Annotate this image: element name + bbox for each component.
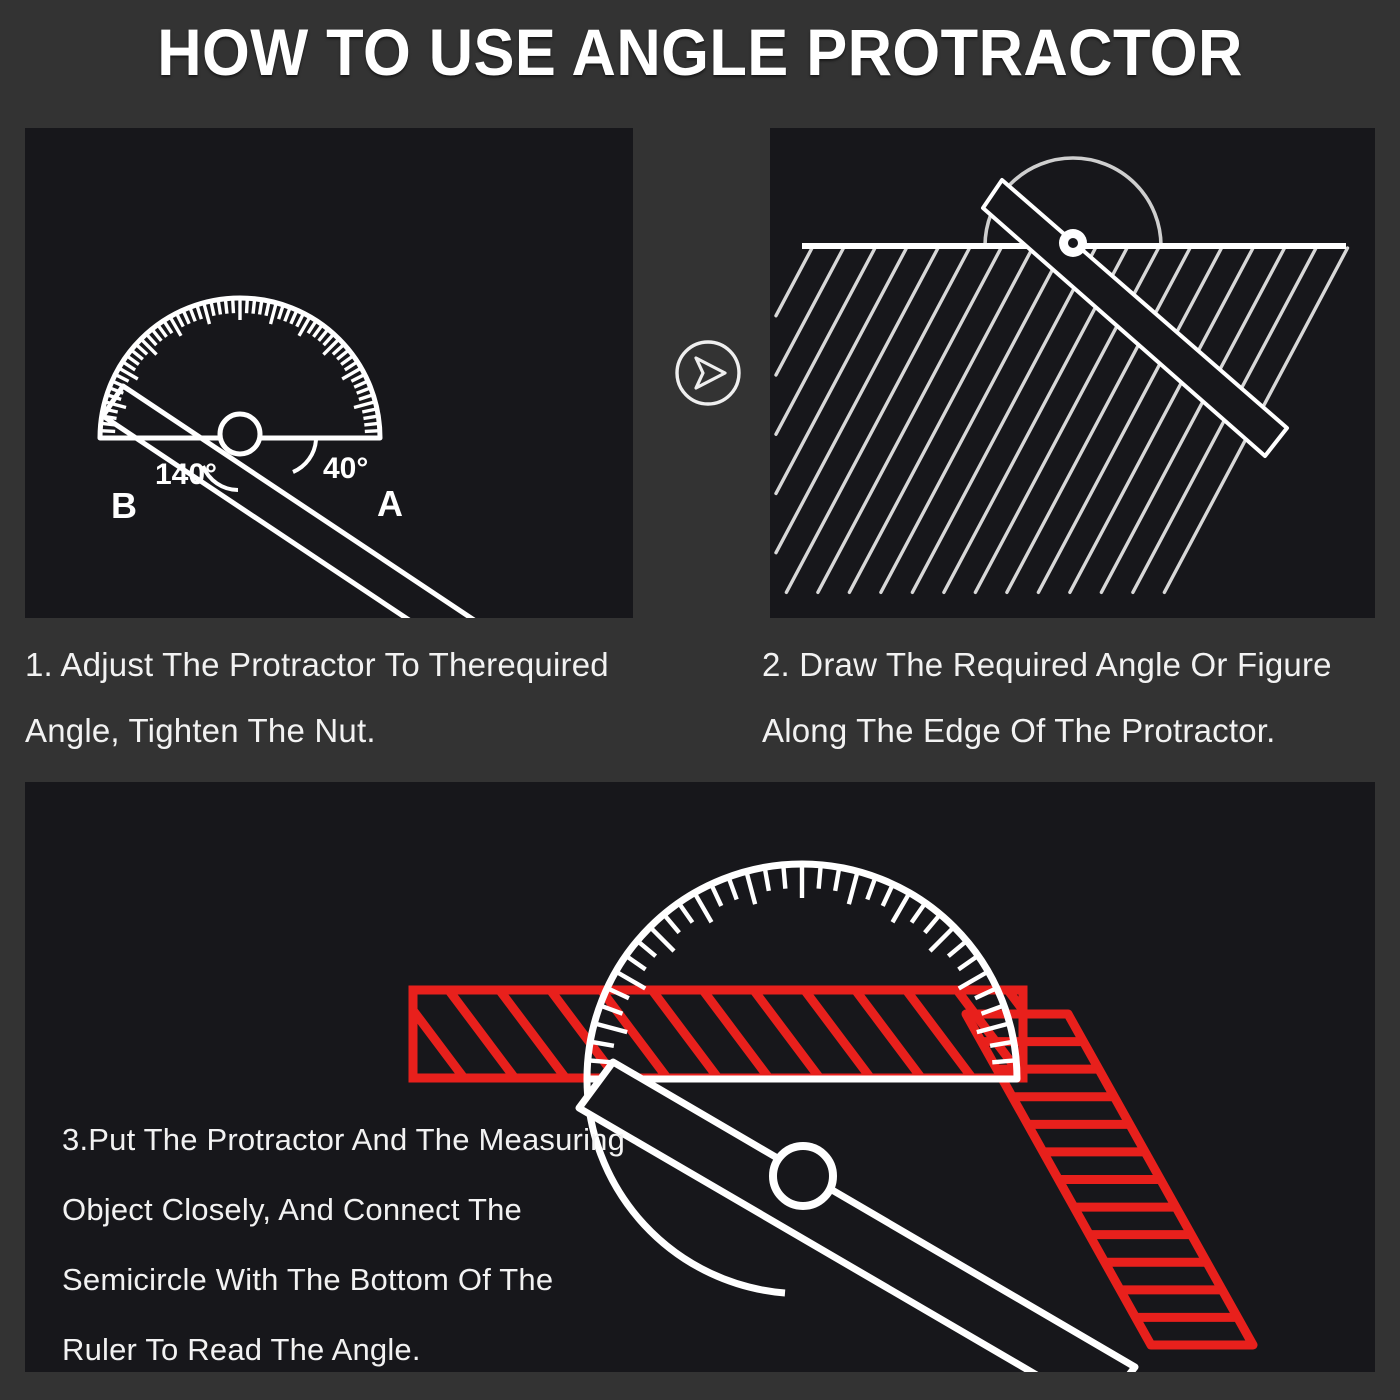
step-1-caption: 1. Adjust The Protractor To Therequired … [25,632,705,764]
step-1-figure-panel: 140° 40° B A [25,128,633,618]
protractor-diagram-step2 [770,128,1375,618]
next-step-arrow-button[interactable] [671,336,745,410]
point-a-label: A [377,483,403,524]
page-title: HOW TO USE ANGLE PROTRACTOR [49,14,1351,90]
right-angle-label: 40° [323,452,368,485]
point-b-label: B [111,485,137,526]
pivot-nut [773,1146,833,1206]
right-angle-arc [293,440,316,472]
protractor-arm [103,386,537,618]
circled-send-arrow-icon [671,336,745,410]
step-3-caption: 3.Put The Protractor And The Measuring O… [62,1105,782,1385]
pivot-nut [220,414,260,454]
step-2-caption: 2. Draw The Required Angle Or Figure Alo… [762,632,1400,764]
step-2-figure-panel [770,128,1375,618]
left-angle-label: 140° [155,458,217,491]
pivot-center-hole [1068,238,1078,248]
protractor-diagram-step1: 140° 40° B A [25,128,633,618]
infographic-page: HOW TO USE ANGLE PROTRACTOR 140° 40° B [0,0,1400,1400]
